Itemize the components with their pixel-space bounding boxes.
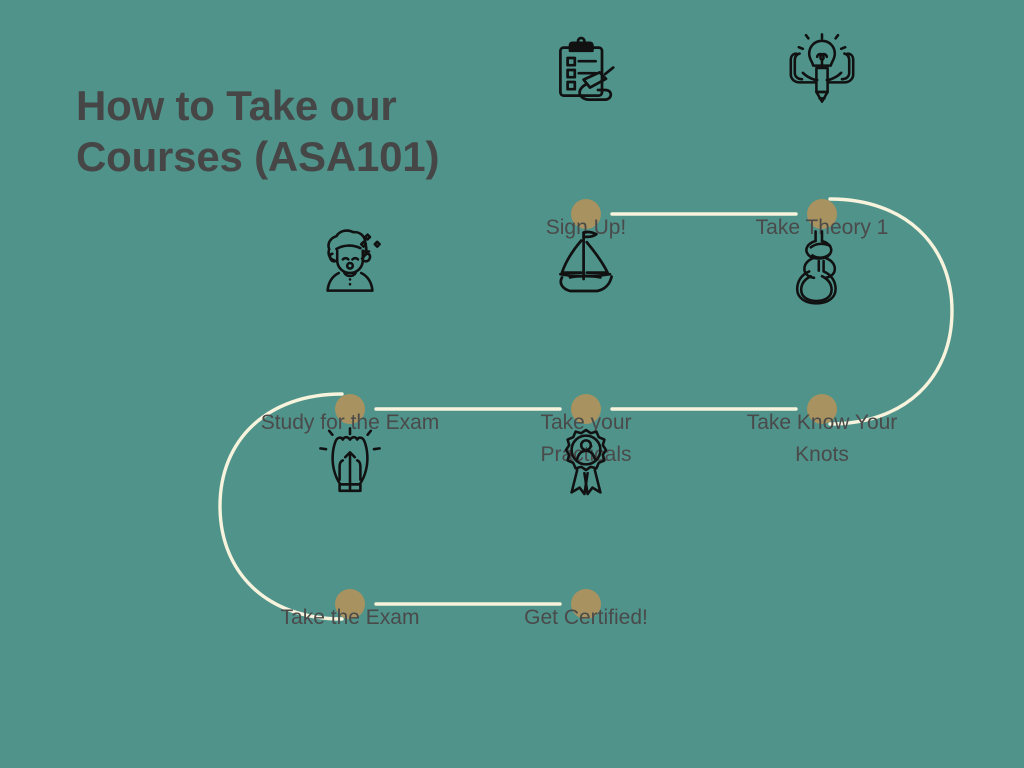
infographic-canvas: How to Take our Courses (ASA101) (0, 0, 1024, 768)
step-label-7: Get Certified! (476, 602, 696, 634)
rope-knot-icon (782, 225, 862, 305)
thinking-person-icon (310, 225, 390, 305)
sailboat-icon (546, 223, 626, 303)
step-label-3: Take Know Your Knots (712, 407, 932, 470)
step-label-6: Take the Exam (240, 602, 460, 634)
flow-connectors (0, 0, 1024, 768)
award-rosette-icon (546, 422, 626, 502)
pen-nib-icon (310, 422, 390, 502)
lightbulb-pencil-muscle-icon (782, 28, 862, 108)
clipboard-signature-icon (546, 30, 626, 110)
